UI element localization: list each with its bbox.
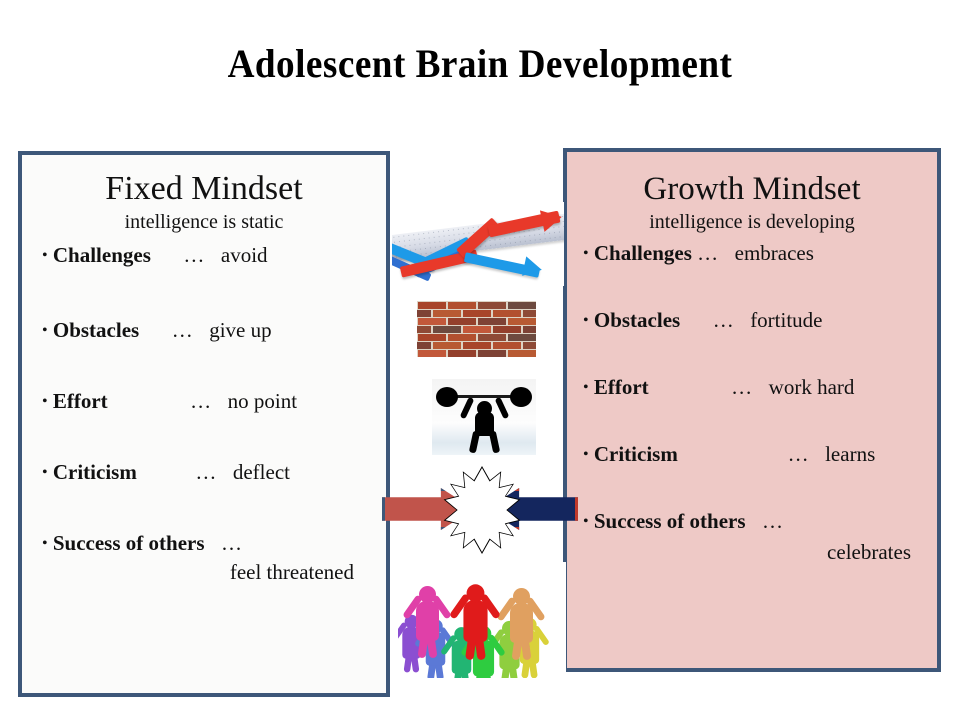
person-part bbox=[416, 601, 439, 641]
bullet-label: Success of others bbox=[594, 509, 746, 533]
weightlifter-leg bbox=[469, 431, 480, 454]
bullet-label: Success of others bbox=[53, 531, 205, 555]
weightlifter-leg bbox=[489, 431, 500, 454]
bullet-icon: • bbox=[583, 245, 589, 262]
bullet-ellipsis: … bbox=[788, 442, 809, 466]
slide-canvas: Adolescent Brain Development Fixed Minds… bbox=[0, 0, 960, 720]
list-item: • Challenges … embraces bbox=[583, 241, 937, 266]
list-item: • Criticism … learns bbox=[583, 442, 937, 467]
bullet-icon: • bbox=[583, 379, 589, 396]
list-item: • Challenges … avoid bbox=[42, 243, 386, 268]
brick bbox=[447, 349, 477, 357]
bullet-label: Obstacles bbox=[53, 318, 139, 342]
person-figure bbox=[416, 586, 439, 660]
bullet-ellipsis: … bbox=[697, 241, 718, 265]
people-circle-image bbox=[398, 562, 566, 678]
list-item: • Effort … work hard bbox=[583, 375, 937, 400]
person-figure bbox=[463, 584, 487, 662]
growth-mindset-subheading: intelligence is developing bbox=[567, 211, 937, 233]
bullet-ellipsis: … bbox=[221, 531, 242, 555]
growth-mindset-bullet-list: • Challenges … embraces • Obstacles … fo… bbox=[567, 241, 937, 565]
fixed-mindset-bullet-list: • Challenges … avoid • Obstacles … give … bbox=[22, 243, 386, 585]
person-part bbox=[513, 588, 530, 605]
red-arrow-head-icon bbox=[540, 206, 564, 232]
fixed-mindset-subheading: intelligence is static bbox=[22, 211, 386, 233]
barbell-plate bbox=[436, 387, 458, 407]
list-item: • Success of others … celebrates bbox=[583, 509, 937, 565]
bullet-icon: • bbox=[583, 513, 589, 530]
list-item: • Effort … no point bbox=[42, 389, 386, 414]
blue-arrow-head-icon bbox=[522, 256, 544, 279]
bullet-icon: • bbox=[42, 535, 48, 552]
person-part bbox=[510, 603, 533, 643]
brick-row bbox=[417, 349, 536, 357]
bullet-value: no point bbox=[228, 389, 297, 413]
arrows-over-road-image bbox=[392, 202, 564, 286]
bullet-icon: • bbox=[583, 446, 589, 463]
bullet-ellipsis: … bbox=[762, 509, 783, 533]
bullet-label: Challenges bbox=[53, 243, 151, 267]
bullet-ellipsis: … bbox=[183, 243, 204, 267]
bullet-icon: • bbox=[42, 247, 48, 264]
bullet-icon: • bbox=[42, 322, 48, 339]
person-part bbox=[463, 600, 487, 642]
bullet-ellipsis: … bbox=[172, 318, 193, 342]
bullet-value: learns bbox=[825, 442, 875, 466]
bullet-value: work hard bbox=[769, 375, 855, 399]
bullet-value: avoid bbox=[221, 243, 268, 267]
bullet-continuation: feel threatened bbox=[42, 560, 386, 585]
weightlifter-image bbox=[432, 379, 536, 455]
bullet-value: give up bbox=[209, 318, 271, 342]
person-part bbox=[467, 584, 485, 602]
bullet-label: Criticism bbox=[53, 460, 137, 484]
bullet-value: fortitude bbox=[750, 308, 822, 332]
brick bbox=[417, 349, 447, 357]
bullet-ellipsis: … bbox=[713, 308, 734, 332]
barbell-plate bbox=[510, 387, 532, 407]
growth-mindset-heading: Growth Mindset bbox=[567, 172, 937, 207]
bullet-icon: • bbox=[42, 393, 48, 410]
bullet-label: Effort bbox=[594, 375, 649, 399]
brick bbox=[507, 349, 536, 357]
bullet-label: Challenges bbox=[594, 241, 692, 265]
list-item: • Obstacles … give up bbox=[42, 318, 386, 343]
bullet-icon: • bbox=[583, 312, 589, 329]
brick-wall-image bbox=[417, 301, 536, 357]
list-item: • Success of others … feel threatened bbox=[42, 531, 386, 585]
page-title: Adolescent Brain Development bbox=[34, 40, 927, 87]
person-part bbox=[419, 586, 436, 603]
bullet-continuation: celebrates bbox=[583, 540, 937, 565]
fixed-mindset-heading: Fixed Mindset bbox=[22, 171, 386, 207]
bullet-label: Effort bbox=[53, 389, 108, 413]
bullet-value: deflect bbox=[233, 460, 290, 484]
bullet-ellipsis: … bbox=[190, 389, 211, 413]
bullet-ellipsis: … bbox=[195, 460, 216, 484]
colliding-arrows-image bbox=[382, 466, 578, 554]
bullet-icon: • bbox=[42, 464, 48, 481]
bullet-ellipsis: … bbox=[731, 375, 752, 399]
weightlifter-arm bbox=[460, 397, 475, 419]
bullet-value: embraces bbox=[735, 241, 814, 265]
growth-mindset-panel: Growth Mindset intelligence is developin… bbox=[563, 148, 941, 672]
weightlifter-arm bbox=[495, 397, 510, 419]
person-figure bbox=[510, 588, 533, 662]
fixed-mindset-panel: Fixed Mindset intelligence is static • C… bbox=[18, 151, 390, 697]
bullet-label: Obstacles bbox=[594, 308, 680, 332]
list-item: • Obstacles … fortitude bbox=[583, 308, 937, 333]
bullet-label: Criticism bbox=[594, 442, 678, 466]
brick bbox=[477, 349, 507, 357]
list-item: • Criticism … deflect bbox=[42, 460, 386, 485]
